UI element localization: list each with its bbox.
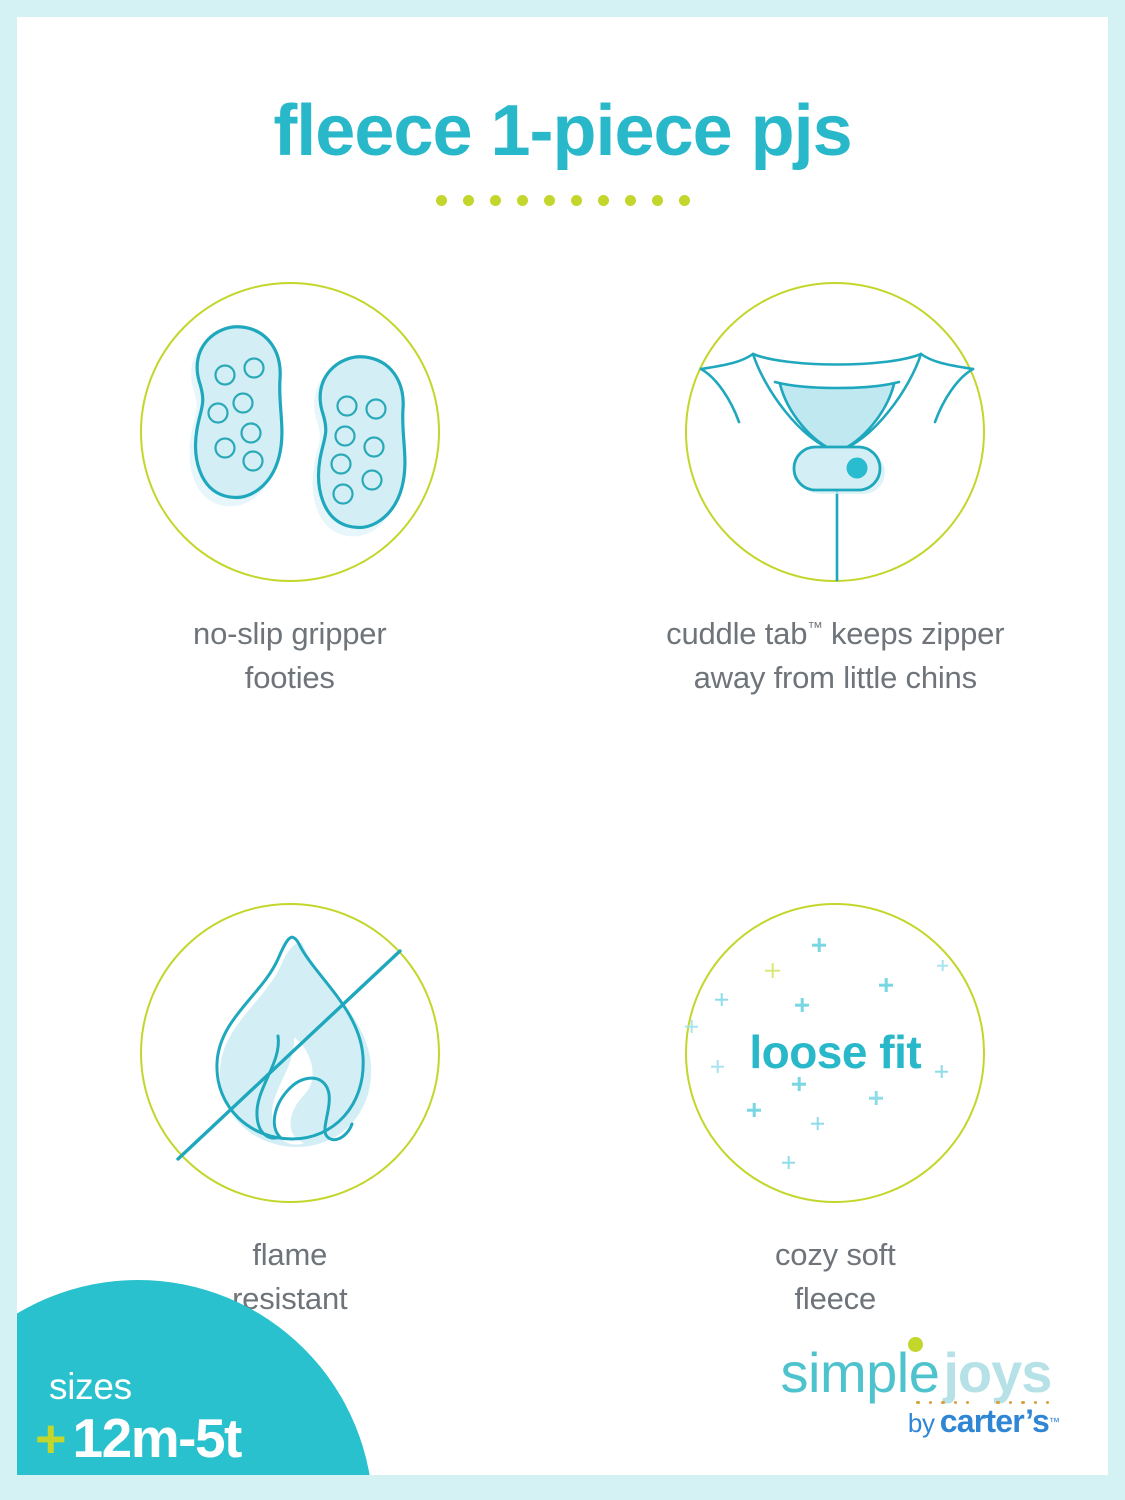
sparkle-plus-icon bbox=[812, 938, 826, 952]
sparkle-plus-icon bbox=[715, 993, 728, 1006]
logo-byline: bycarter’s™ bbox=[766, 1405, 1066, 1437]
sizes-badge-content: sizes + 12m-5t bbox=[35, 1368, 241, 1466]
sizes-label: sizes bbox=[49, 1368, 241, 1405]
logo-by-text: by bbox=[908, 1408, 935, 1438]
plus-icon: + bbox=[35, 1412, 67, 1466]
logo-underdot bbox=[966, 1401, 969, 1404]
logo-underdots-right bbox=[996, 1401, 1049, 1404]
divider-dot bbox=[571, 195, 582, 206]
feature-cozy-soft-fleece: loose fit cozy soft fleece bbox=[563, 903, 1109, 1321]
caption-line-2: footies bbox=[193, 656, 386, 700]
divider-dot bbox=[679, 195, 690, 206]
cuddle-tab-collar-icon bbox=[685, 282, 985, 582]
caption-line-1: cozy soft bbox=[775, 1233, 896, 1277]
logo-underdot bbox=[954, 1401, 957, 1404]
caption-line-1: flame bbox=[232, 1233, 347, 1277]
loose-fit-label: loose fit bbox=[687, 1025, 983, 1079]
feature-row-2: flame resistant bbox=[17, 903, 1108, 1321]
feature-gripper-footies: no-slip gripper footies bbox=[17, 282, 563, 700]
sparkle-plus-icon bbox=[747, 1103, 761, 1117]
sparkle-plus-icon bbox=[937, 960, 948, 971]
logo-underdot bbox=[1034, 1401, 1037, 1404]
feature-caption: no-slip gripper footies bbox=[193, 612, 386, 700]
divider-dot bbox=[436, 195, 447, 206]
caption-line-2: fleece bbox=[775, 1277, 896, 1321]
sparkle-plus-icon bbox=[869, 1091, 883, 1105]
feature-cuddle-tab: cuddle tab™ keeps zipper away from littl… bbox=[563, 282, 1109, 700]
trademark-symbol: ™ bbox=[807, 620, 822, 637]
caption-text-b: keeps zipper bbox=[823, 616, 1005, 651]
sizes-range-value: 12m-5t bbox=[73, 1411, 241, 1466]
logo-underdot bbox=[1046, 1401, 1049, 1404]
logo-underdot bbox=[1009, 1401, 1012, 1404]
logo-brand-text: carter’s bbox=[940, 1403, 1049, 1439]
sparkle-plus-icon bbox=[879, 978, 893, 992]
divider-dot bbox=[544, 195, 555, 206]
poster-inner-panel: fleece 1-piece pjs bbox=[17, 17, 1108, 1475]
divider-dot bbox=[598, 195, 609, 206]
logo-underdots-left bbox=[916, 1401, 969, 1404]
divider-dot bbox=[652, 195, 663, 206]
feature-caption: cuddle tab™ keeps zipper away from littl… bbox=[666, 612, 1004, 700]
logo-underdot bbox=[1021, 1401, 1024, 1404]
page-title: fleece 1-piece pjs bbox=[17, 95, 1108, 167]
feature-flame-resistant: flame resistant bbox=[17, 903, 563, 1321]
sizes-range-row: + 12m-5t bbox=[35, 1411, 241, 1466]
no-flame-icon bbox=[140, 903, 440, 1203]
divider-dot bbox=[463, 195, 474, 206]
divider-dot bbox=[490, 195, 501, 206]
gripper-footies-icon bbox=[140, 282, 440, 582]
title-dot-divider bbox=[17, 195, 1108, 206]
product-infographic-poster: fleece 1-piece pjs bbox=[0, 0, 1125, 1500]
feature-row-1: no-slip gripper footies bbox=[17, 282, 1108, 700]
sparkle-plus-icon bbox=[811, 1117, 824, 1130]
sparkle-plus-icon bbox=[765, 963, 780, 978]
logo-trademark-icon: ™ bbox=[1049, 1417, 1060, 1429]
loose-fit-icon: loose fit bbox=[685, 903, 985, 1203]
feature-caption: cozy soft fleece bbox=[775, 1233, 896, 1321]
divider-dot bbox=[625, 195, 636, 206]
caption-line-1: no-slip gripper bbox=[193, 612, 386, 656]
caption-line-2: away from little chins bbox=[666, 656, 1004, 700]
caption-text-a: cuddle tab bbox=[666, 616, 807, 651]
divider-dot bbox=[517, 195, 528, 206]
logo-word-joys: joys bbox=[943, 1341, 1051, 1404]
sparkle-plus-icon bbox=[792, 1077, 806, 1091]
logo-underdot bbox=[916, 1401, 919, 1404]
logo-wordmark: simplejoys bbox=[781, 1345, 1052, 1401]
brand-logo: simplejoys bycarter’s™ bbox=[766, 1345, 1066, 1437]
sparkle-plus-icon bbox=[795, 998, 809, 1012]
sparkle-plus-icon bbox=[782, 1156, 795, 1169]
logo-underdot bbox=[929, 1401, 932, 1404]
feature-grid: no-slip gripper footies bbox=[17, 282, 1108, 1321]
logo-underdot bbox=[996, 1401, 999, 1404]
logo-underdot bbox=[941, 1401, 944, 1404]
caption-line-1: cuddle tab™ keeps zipper bbox=[666, 612, 1004, 656]
